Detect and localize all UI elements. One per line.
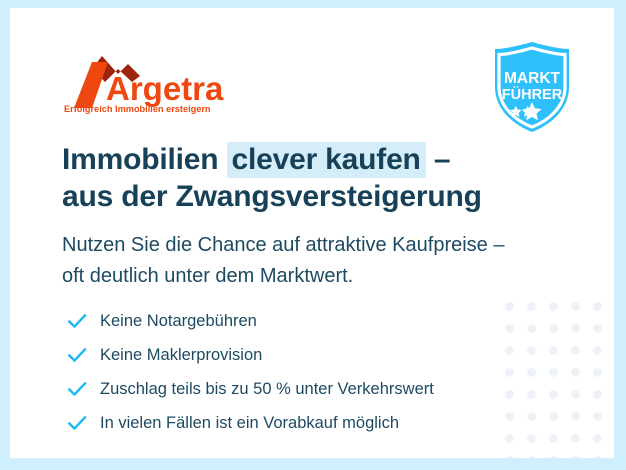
decorative-dot (593, 456, 602, 458)
headline-line1: Immobilien clever kaufen – (62, 142, 450, 178)
decorative-dot (527, 368, 536, 377)
decorative-dot (593, 346, 602, 355)
decorative-dot (549, 456, 558, 458)
decorative-dot (571, 412, 580, 421)
headline-highlight: clever kaufen (227, 142, 426, 178)
svg-text:Erfolgreich Immobilien ersteig: Erfolgreich Immobilien ersteigern (64, 104, 211, 114)
headline-suffix: – (426, 143, 451, 176)
benefit-label: In vielen Fällen ist ein Vorabkauf mögli… (100, 413, 399, 433)
decorative-dot (527, 456, 536, 458)
decorative-dot (505, 456, 514, 458)
decorative-dot (527, 434, 536, 443)
decorative-dot (571, 368, 580, 377)
decorative-dot (505, 412, 514, 421)
market-leader-badge: MARKT FÜHRER MARKT FÜHRER (490, 40, 574, 134)
decorative-dot (571, 390, 580, 399)
decorative-dot (593, 434, 602, 443)
benefit-label: Zuschlag teils bis zu 50 % unter Verkehr… (100, 379, 434, 399)
decorative-dot (593, 368, 602, 377)
decorative-dot (571, 302, 580, 311)
promo-banner: Argetra Erfolgreich Immobilien ersteiger… (0, 0, 626, 470)
decorative-dot (527, 302, 536, 311)
decorative-dot (505, 434, 514, 443)
benefits-list: Keine NotargebührenKeine Maklerprovision… (66, 306, 434, 442)
argetra-logo[interactable]: Argetra Erfolgreich Immobilien ersteiger… (62, 52, 242, 114)
decorative-dot (527, 324, 536, 333)
decorative-dot (549, 302, 558, 311)
subheadline-line1: Nutzen Sie die Chance auf attraktive Kau… (62, 234, 504, 256)
decorative-dot (505, 390, 514, 399)
check-icon (66, 378, 88, 400)
dot-grid-decoration (498, 296, 608, 458)
decorative-dot (549, 324, 558, 333)
banner-card: Argetra Erfolgreich Immobilien ersteiger… (10, 8, 614, 458)
decorative-dot (549, 434, 558, 443)
check-icon (66, 344, 88, 366)
svg-text:Argetra: Argetra (106, 70, 224, 107)
headline: Immobilien clever kaufen – aus der Zwang… (62, 141, 482, 215)
decorative-dot (593, 390, 602, 399)
decorative-dot (505, 302, 514, 311)
benefit-item: Keine Notargebühren (66, 306, 434, 335)
decorative-dot (593, 412, 602, 421)
decorative-dot (527, 346, 536, 355)
check-icon (66, 310, 88, 332)
subheadline-line2: oft deutlich unter dem Marktwert. (62, 265, 353, 287)
decorative-dot (505, 346, 514, 355)
shield-icon: MARKT FÜHRER (490, 40, 574, 134)
benefit-item: In vielen Fällen ist ein Vorabkauf mögli… (66, 408, 434, 437)
decorative-dot (549, 346, 558, 355)
benefit-item: Zuschlag teils bis zu 50 % unter Verkehr… (66, 374, 434, 403)
headline-line2: aus der Zwangsversteigerung (62, 180, 482, 213)
decorative-dot (571, 434, 580, 443)
svg-text:MARKT: MARKT (504, 70, 560, 87)
decorative-dot (549, 390, 558, 399)
decorative-dot (527, 390, 536, 399)
decorative-dot (571, 324, 580, 333)
decorative-dot (549, 412, 558, 421)
decorative-dot (505, 324, 514, 333)
check-icon (66, 412, 88, 434)
svg-text:FÜHRER: FÜHRER (502, 86, 563, 103)
decorative-dot (505, 368, 514, 377)
benefit-item: Keine Maklerprovision (66, 340, 434, 369)
decorative-dot (593, 324, 602, 333)
decorative-dot (549, 368, 558, 377)
headline-prefix: Immobilien (62, 143, 227, 176)
benefit-label: Keine Maklerprovision (100, 345, 262, 365)
decorative-dot (593, 302, 602, 311)
decorative-dot (527, 412, 536, 421)
decorative-dot (571, 456, 580, 458)
benefit-label: Keine Notargebühren (100, 311, 257, 331)
subheadline: Nutzen Sie die Chance auf attraktive Kau… (62, 230, 504, 292)
decorative-dot (571, 346, 580, 355)
argetra-a-roof-icon: Argetra Erfolgreich Immobilien ersteiger… (62, 52, 242, 114)
